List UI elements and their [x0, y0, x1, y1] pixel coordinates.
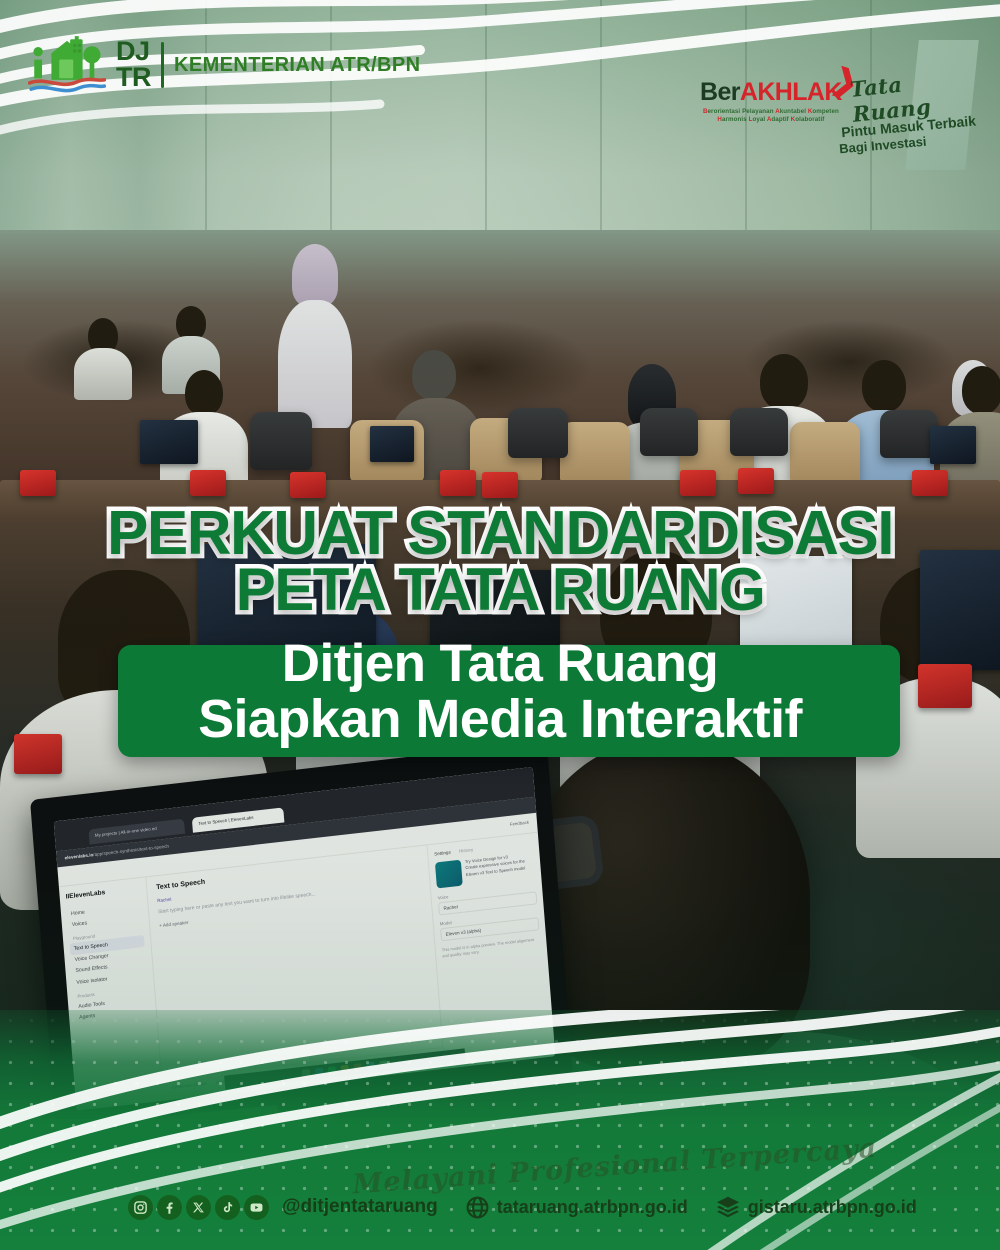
ministry-name: KEMENTERIAN ATR/BPN — [174, 54, 421, 77]
djtr-emblem-icon — [28, 36, 106, 94]
berakhlak-akhlak: AKHLAK — [740, 78, 842, 106]
poster-canvas: My projects | All-in-one video ed Text t… — [0, 0, 1000, 1250]
berakhlak-values-line1: Berorientasi Pelayanan Akuntabel Kompete… — [700, 108, 842, 115]
headline-line2: PETA TATA RUANG — [0, 562, 1000, 617]
footer-contact-row: @ditjentataruang tataruang.atrbpn.go.id … — [128, 1194, 917, 1220]
subheadline-line2: Siapkan Media Interaktif — [0, 692, 1000, 746]
tata-ruang-slogan: Tata Ruang Pintu Masuk Terbaik Bagi Inve… — [845, 70, 985, 140]
berakhlak-wordmark: BerAKHLAK ❯ — [700, 78, 842, 107]
subheadline-text: Ditjen Tata Ruang Siapkan Media Interakt… — [0, 637, 1000, 746]
tiktok-icon[interactable] — [215, 1195, 240, 1220]
djtr-logo-group: DJ TR KEMENTERIAN ATR/BPN — [28, 36, 421, 94]
promo-thumbnail — [435, 860, 463, 889]
berakhlak-logo: BerAKHLAK ❯ Berorientasi Pelayanan Akunt… — [700, 78, 842, 123]
poster-headline: PERKUAT STANDARDISASI PETA TATA RUANG — [0, 505, 1000, 617]
berakhlak-values-line2: Harmonis Loyal Adaptif Kolaboratif — [700, 116, 842, 123]
voice-design-promo[interactable]: Try Voice Design for v3 Create expressiv… — [435, 851, 535, 888]
berakhlak-ber: Ber — [700, 78, 740, 106]
website-url: tataruang.atrbpn.go.id — [497, 1197, 688, 1218]
logo-divider — [161, 42, 164, 88]
djtr-line2: TR — [116, 65, 151, 91]
poster-header: DJ TR KEMENTERIAN ATR/BPN BerAKHLAK ❯ Be… — [0, 30, 1000, 110]
globe-icon — [465, 1195, 490, 1220]
tab-settings[interactable]: Settings — [434, 850, 451, 857]
topbar-links[interactable]: Feedback — [510, 820, 530, 827]
social-icons-group — [128, 1195, 269, 1220]
layers-icon — [715, 1194, 741, 1220]
x-twitter-icon[interactable] — [186, 1195, 211, 1220]
subheadline-line1: Ditjen Tata Ruang — [0, 637, 1000, 690]
instagram-icon[interactable] — [128, 1195, 153, 1220]
social-handle[interactable]: @ditjentataruang — [282, 1196, 438, 1218]
djtr-wordmark: DJ TR — [116, 39, 151, 90]
url-domain: elevenlabs.io — [64, 852, 93, 860]
website-item[interactable]: tataruang.atrbpn.go.id — [465, 1195, 688, 1220]
facebook-icon[interactable] — [157, 1195, 182, 1220]
poster-footer: Melayani Profesional Terpercaya — [0, 1010, 1000, 1250]
model-note: This model is in alpha preview. The mode… — [442, 936, 541, 960]
gistaru-item[interactable]: gistaru.atrbpn.go.id — [715, 1194, 917, 1220]
elevenlabs-logo: IIElevenLabs — [65, 885, 140, 900]
tab-history[interactable]: History — [459, 847, 474, 854]
youtube-icon[interactable] — [244, 1195, 269, 1220]
gistaru-url: gistaru.atrbpn.go.id — [748, 1197, 917, 1218]
headline-line1: PERKUAT STANDARDISASI — [0, 505, 1000, 562]
